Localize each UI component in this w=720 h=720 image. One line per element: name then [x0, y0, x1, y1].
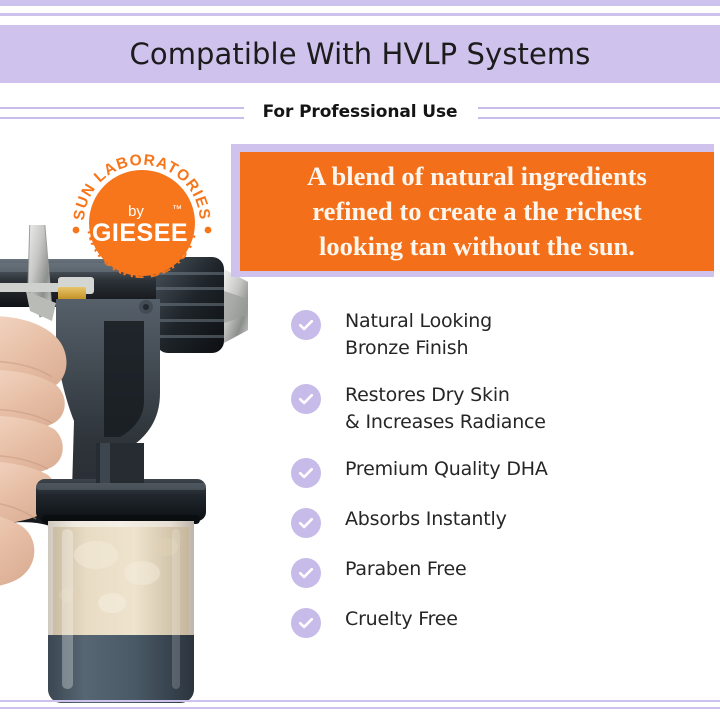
list-item-line-1: Restores Dry Skin — [345, 384, 510, 406]
list-item-text: Absorbs Instantly — [345, 506, 507, 533]
bottle-neck-highlight — [100, 443, 110, 483]
page-title: Compatible With HVLP Systems — [130, 37, 591, 71]
list-item-text: Natural Looking Bronze Finish — [345, 308, 492, 362]
check-icon — [291, 608, 321, 638]
fluid-needle — [0, 283, 60, 292]
body-screw-slot — [143, 304, 149, 310]
list-item-line-2: Bronze Finish — [345, 335, 492, 362]
badge-brand-name: GIESEE — [92, 219, 188, 247]
list-item: Restores Dry Skin & Increases Radiance — [291, 382, 711, 436]
callout-line-1: A blend of natural ingredients — [307, 161, 647, 191]
callout-box: A blend of natural ingredients refined t… — [240, 152, 714, 271]
list-item-text: Premium Quality DHA — [345, 456, 548, 483]
handle-grip-recess — [104, 321, 144, 437]
header-band: Compatible With HVLP Systems — [0, 25, 720, 83]
badge-trademark-icon: ™ — [172, 204, 182, 215]
callout-line-3: looking tan without the sun. — [319, 231, 635, 261]
check-icon — [291, 310, 321, 340]
list-item-line-2: & Increases Radiance — [345, 409, 546, 436]
list-item: Premium Quality DHA — [291, 456, 711, 488]
product-feature-page: Compatible With HVLP Systems For Profess… — [0, 0, 720, 720]
badge-by-label: by — [128, 203, 144, 220]
subheader-label: For Professional Use — [0, 100, 720, 124]
subheader: For Professional Use — [0, 100, 720, 126]
badge-dot-right — [205, 227, 212, 234]
callout-text: A blend of natural ingredients refined t… — [297, 159, 657, 264]
list-item-line-1: Paraben Free — [345, 558, 466, 580]
brand-logo: SUN LABORATORIES NATURAL BEAUTY by GIESE… — [67, 148, 217, 298]
badge-dot-left — [73, 227, 80, 234]
list-item-line-1: Absorbs Instantly — [345, 508, 507, 530]
check-icon — [291, 508, 321, 538]
check-icon — [291, 558, 321, 588]
list-item-line-1: Premium Quality DHA — [345, 458, 548, 480]
check-icon — [291, 458, 321, 488]
top-rule-thick — [0, 0, 720, 6]
list-item-line-1: Cruelty Free — [345, 608, 458, 630]
bottom-rule-upper — [0, 700, 720, 702]
callout-line-2: refined to create a the richest — [312, 196, 641, 226]
benefits-list: Natural Looking Bronze Finish Restores D… — [291, 308, 711, 656]
bottom-rule-lower — [0, 707, 720, 709]
top-rule-thin — [0, 13, 720, 16]
list-item: Natural Looking Bronze Finish — [291, 308, 711, 362]
check-icon — [291, 384, 321, 414]
list-item-text: Paraben Free — [345, 556, 466, 583]
bottle-highlight-right — [172, 529, 180, 689]
bottle-cap-highlight — [36, 483, 206, 490]
list-item: Absorbs Instantly — [291, 506, 711, 538]
list-item: Cruelty Free — [291, 606, 711, 638]
list-item-line-1: Natural Looking — [345, 310, 492, 332]
list-item-text: Restores Dry Skin & Increases Radiance — [345, 382, 546, 436]
list-item-text: Cruelty Free — [345, 606, 458, 633]
sun-laboratories-badge: SUN LABORATORIES NATURAL BEAUTY by GIESE… — [67, 148, 217, 298]
list-item: Paraben Free — [291, 556, 711, 588]
bottle-highlight-left — [62, 529, 73, 689]
